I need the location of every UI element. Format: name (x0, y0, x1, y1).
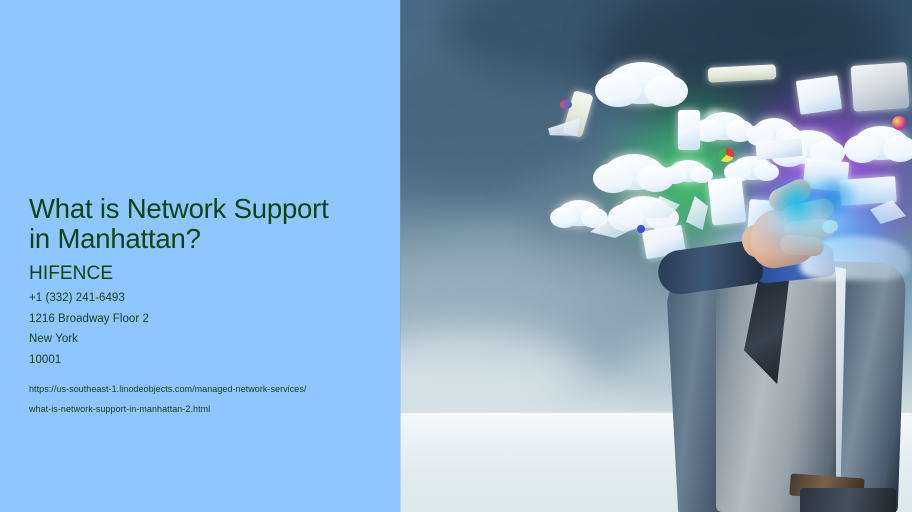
trousers (800, 488, 896, 512)
cloud-icon (668, 160, 708, 182)
source-url: https://us-southeast-1.linodeobjects.com… (29, 379, 399, 419)
source-url-line-2: what-is-network-support-in-manhattan-2.h… (29, 399, 399, 419)
pie-chart-icon (718, 148, 734, 162)
cloud-icon (556, 200, 602, 226)
text-block: What is Network Support in Manhattan? HI… (29, 194, 399, 419)
phone-number: +1 (332) 241-6493 (29, 288, 399, 309)
street-address: 1216 Broadway Floor 2 (29, 309, 399, 330)
pie-chart-icon (560, 100, 572, 109)
postal-code: 10001 (29, 350, 399, 371)
cyan-swirl (768, 174, 864, 236)
right-image-panel (400, 0, 912, 512)
source-url-line-1: https://us-southeast-1.linodeobjects.com… (29, 379, 399, 399)
dot-icon (637, 225, 645, 233)
page-title: What is Network Support in Manhattan? (29, 194, 399, 254)
cloud-icon (700, 112, 748, 140)
document-card-icon (678, 110, 700, 150)
slide-canvas: What is Network Support in Manhattan? HI… (0, 0, 912, 512)
brand-name: HIFENCE (29, 263, 399, 285)
cloud-icon (852, 126, 910, 160)
document-card-icon (850, 62, 909, 112)
businessman (650, 180, 912, 512)
screen-icon (796, 75, 842, 115)
city: New York (29, 329, 399, 350)
panel-divider (400, 0, 401, 512)
left-text-panel: What is Network Support in Manhattan? HI… (0, 0, 400, 512)
pie-chart-icon (892, 116, 906, 130)
